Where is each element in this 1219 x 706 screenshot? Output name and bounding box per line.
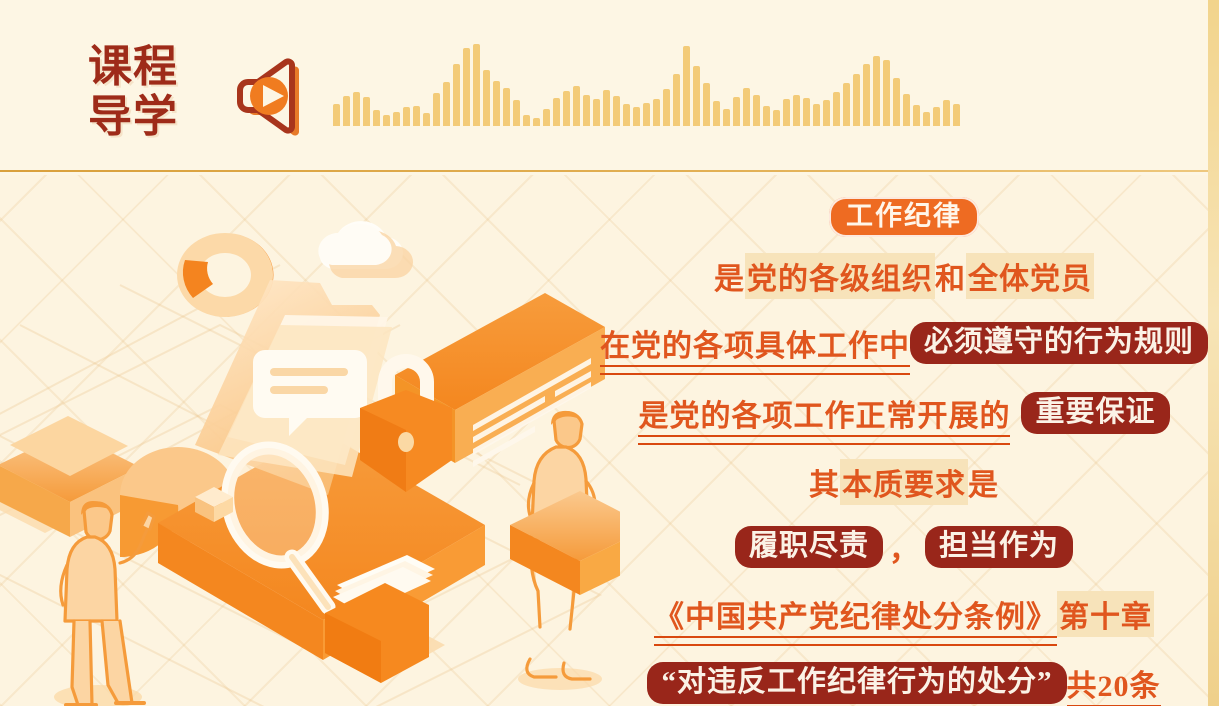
waveform-bar [843, 83, 850, 126]
waveform-bar [833, 92, 840, 126]
waveform-bar [343, 96, 350, 126]
waveform-bar [533, 118, 540, 126]
waveform-bar [473, 44, 480, 126]
plain-text: 和 [935, 254, 966, 298]
waveform-bar [613, 96, 620, 126]
line-4: 是党的各项工作正常开展的重要保证 [600, 391, 1208, 435]
waveform-bar [753, 95, 760, 126]
waveform-bar [953, 104, 960, 126]
course-guide-logo: 课程 导学 [88, 42, 200, 142]
megaphone-speaker-icon[interactable] [228, 52, 314, 136]
poster-canvas: 课程 导学 [0, 0, 1219, 706]
waveform-bar [603, 90, 610, 126]
line-8: “对违反工作纪律行为的处分”共20条 [600, 661, 1208, 705]
waveform-bar [943, 100, 950, 126]
plain-text: 是 [714, 254, 745, 298]
text-panel: 工作纪律是党的各级组织和全体党员在党的各项具体工作中必须遵守的行为规则是党的各项… [600, 189, 1208, 699]
waveform-bar [583, 95, 590, 126]
waveform-bar [743, 88, 750, 126]
waveform-bar [363, 97, 370, 126]
waveform-bar [483, 70, 490, 126]
waveform-bar [933, 107, 940, 126]
line-6: 履职尽责，担当作为 [600, 525, 1208, 569]
waveform-bar [863, 64, 870, 126]
waveform-bar [723, 109, 730, 126]
waveform-bar [703, 83, 710, 126]
waveform-bar [543, 109, 550, 126]
waveform-bar [883, 60, 890, 126]
right-gold-band [1208, 0, 1219, 706]
waveform-bar [503, 88, 510, 126]
underlined-text: 在党的各项具体工作中 [600, 321, 910, 365]
cloud-icon [318, 221, 413, 278]
waveform-bar [463, 48, 470, 126]
waveform-bar [893, 78, 900, 126]
waveform-bar [553, 98, 560, 126]
waveform-bar [523, 115, 530, 126]
badge-dark-red[interactable]: 重要保证 [1021, 392, 1169, 435]
highlighted-text: 本质要求 [840, 459, 968, 505]
waveform-bar [623, 104, 630, 126]
waveform-bar [853, 74, 860, 126]
badge-dark-red[interactable]: 担当作为 [925, 526, 1073, 569]
waveform-bar [873, 56, 880, 126]
plain-text: 其 [809, 460, 840, 504]
badge-dark-red[interactable]: “对违反工作纪律行为的处分” [647, 662, 1066, 705]
underlined-text: 《中国共产党纪律处分条例》 [654, 592, 1057, 636]
waveform-bar [643, 103, 650, 126]
badge-dark-red[interactable]: 履职尽责 [735, 526, 883, 569]
underlined-text: 是党的各项工作正常开展的 [638, 391, 1010, 435]
waveform-bar [713, 101, 720, 126]
waveform-bar [433, 93, 440, 126]
highlighted-text: 党的各级组织 [745, 253, 935, 299]
waveform-bar [693, 66, 700, 126]
waveform-bar [373, 110, 380, 126]
stacked-box-icon [0, 416, 140, 537]
line-3: 在党的各项具体工作中必须遵守的行为规则 [600, 321, 1208, 365]
waveform-bar [793, 95, 800, 126]
waveform-bar [593, 99, 600, 126]
waveform-bar [493, 81, 500, 126]
logo-line-2: 导学 [88, 92, 200, 142]
waveform-bar [563, 91, 570, 126]
waveform-bar [683, 46, 690, 126]
waveform-bar [453, 64, 460, 126]
waveform-bar [803, 98, 810, 126]
line-title: 工作纪律 [600, 197, 1208, 237]
plain-text: 是 [968, 460, 999, 504]
waveform-bar [653, 99, 660, 126]
waveform-bar [663, 89, 670, 126]
waveform-bar [763, 106, 770, 126]
underlined-text: 共20条 [1067, 661, 1161, 705]
waveform-bar [633, 107, 640, 126]
waveform-bar [333, 104, 340, 126]
waveform-bar [923, 112, 930, 126]
waveform-bar [423, 113, 430, 126]
waveform-bar [413, 106, 420, 126]
waveform-bar [353, 92, 360, 126]
waveform-bar [403, 107, 410, 126]
waveform-bar [443, 82, 450, 126]
isometric-office-illustration [0, 175, 620, 706]
waveform-bar [903, 94, 910, 126]
waveform-bar [783, 99, 790, 126]
badge-dark-red[interactable]: 必须遵守的行为规则 [910, 322, 1208, 365]
header-bar: 课程 导学 [0, 0, 1219, 172]
waveform-bar [913, 105, 920, 126]
waveform-bar [383, 115, 390, 126]
audio-waveform [333, 36, 1133, 126]
highlighted-text: 第十章 [1057, 591, 1154, 637]
line-5: 其本质要求是 [600, 459, 1208, 505]
waveform-bar [513, 100, 520, 126]
waveform-bar [393, 112, 400, 126]
waveform-bar [773, 110, 780, 126]
waveform-bar [823, 100, 830, 126]
waveform-bar [733, 97, 740, 126]
highlighted-text: 全体党员 [966, 253, 1094, 299]
waveform-bar [673, 74, 680, 126]
line-2: 是党的各级组织和全体党员 [600, 253, 1208, 299]
header-divider [0, 170, 1219, 172]
waveform-bar [813, 104, 820, 126]
content-area: 工作纪律是党的各级组织和全体党员在党的各项具体工作中必须遵守的行为规则是党的各项… [0, 175, 1219, 706]
line-7: 《中国共产党纪律处分条例》第十章 [600, 591, 1208, 637]
comma-separator: ， [883, 525, 925, 569]
logo-line-1: 课程 [88, 42, 200, 92]
badge-orange[interactable]: 工作纪律 [829, 197, 979, 237]
waveform-bar [573, 86, 580, 126]
